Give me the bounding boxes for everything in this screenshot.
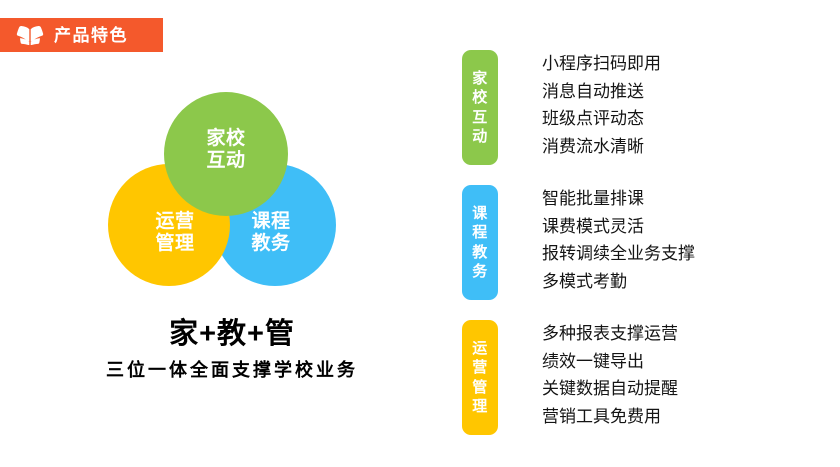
feature-item: 消费流水清晰 (542, 133, 661, 161)
feature-item: 消息自动推送 (542, 78, 661, 106)
feature-item: 营销工具免费用 (542, 403, 678, 431)
feature-item: 关键数据自动提醒 (542, 375, 678, 403)
feature-tab-label: 课 程 教 务 (472, 204, 488, 281)
feature-tab-label: 家 校 互 动 (472, 69, 488, 146)
feature-tab-label-char: 教 (472, 243, 488, 262)
tagline-sub: 三位一体全面支撑学校业务 (62, 360, 402, 382)
feature-tab-label-char: 校 (472, 88, 488, 107)
feature-list: 智能批量排课 课费模式灵活 报转调续全业务支撑 多模式考勤 (498, 185, 695, 295)
section-header-badge: 产品特色 (0, 18, 163, 52)
venn-circle-label-line: 课程 (251, 211, 290, 233)
feature-tab-label-char: 理 (472, 397, 488, 416)
open-book-icon (16, 25, 44, 45)
feature-tab-label-char: 互 (472, 108, 488, 127)
feature-tab-operations-management[interactable]: 运 营 管 理 (462, 320, 498, 435)
venn-circle-label-line: 教务 (251, 233, 290, 255)
feature-item: 班级点评动态 (542, 105, 661, 133)
tagline-main: 家+教+管 (62, 318, 402, 351)
feature-groups: 家 校 互 动 小程序扫码即用 消息自动推送 班级点评动态 消费流水清晰 课 程… (462, 50, 832, 455)
feature-tab-label-char: 动 (472, 127, 488, 146)
venn-diagram: 家校 互动 运营 管理 课程 教务 (108, 92, 338, 288)
feature-list: 多种报表支撑运营 绩效一键导出 关键数据自动提醒 营销工具免费用 (498, 320, 678, 430)
feature-group-family-school-interaction: 家 校 互 动 小程序扫码即用 消息自动推送 班级点评动态 消费流水清晰 (462, 50, 832, 165)
feature-tab-label-char: 运 (472, 339, 488, 358)
feature-tab-label-char: 课 (472, 204, 488, 223)
feature-tab-label-char: 程 (472, 223, 488, 242)
tagline-block: 家+教+管 三位一体全面支撑学校业务 (62, 318, 402, 382)
venn-circle-label: 课程 教务 (251, 211, 290, 256)
feature-tab-course-affairs[interactable]: 课 程 教 务 (462, 185, 498, 300)
venn-circle-label-line: 运营 (155, 211, 194, 233)
feature-item: 小程序扫码即用 (542, 50, 661, 78)
feature-item: 多模式考勤 (542, 268, 695, 296)
feature-tab-family-school-interaction[interactable]: 家 校 互 动 (462, 50, 498, 165)
feature-tab-label: 运 营 管 理 (472, 339, 488, 416)
feature-tab-label-char: 管 (472, 378, 488, 397)
feature-tab-label-char: 家 (472, 69, 488, 88)
venn-circle-label-line: 管理 (155, 233, 194, 255)
venn-circle-label-line: 互动 (206, 150, 245, 172)
feature-item: 课费模式灵活 (542, 213, 695, 241)
feature-item: 智能批量排课 (542, 185, 695, 213)
venn-circle-family-school-interaction[interactable]: 家校 互动 (164, 92, 288, 216)
venn-circle-label: 家校 互动 (206, 128, 245, 173)
feature-item: 绩效一键导出 (542, 348, 678, 376)
feature-group-course-affairs: 课 程 教 务 智能批量排课 课费模式灵活 报转调续全业务支撑 多模式考勤 (462, 185, 832, 300)
feature-item: 多种报表支撑运营 (542, 320, 678, 348)
feature-item: 报转调续全业务支撑 (542, 240, 695, 268)
feature-group-operations-management: 运 营 管 理 多种报表支撑运营 绩效一键导出 关键数据自动提醒 营销工具免费用 (462, 320, 832, 435)
venn-circle-label: 运营 管理 (155, 211, 194, 256)
feature-tab-label-char: 营 (472, 358, 488, 377)
header-title: 产品特色 (54, 27, 128, 44)
feature-tab-label-char: 务 (472, 262, 488, 281)
feature-list: 小程序扫码即用 消息自动推送 班级点评动态 消费流水清晰 (498, 50, 661, 160)
venn-circle-label-line: 家校 (206, 128, 245, 150)
